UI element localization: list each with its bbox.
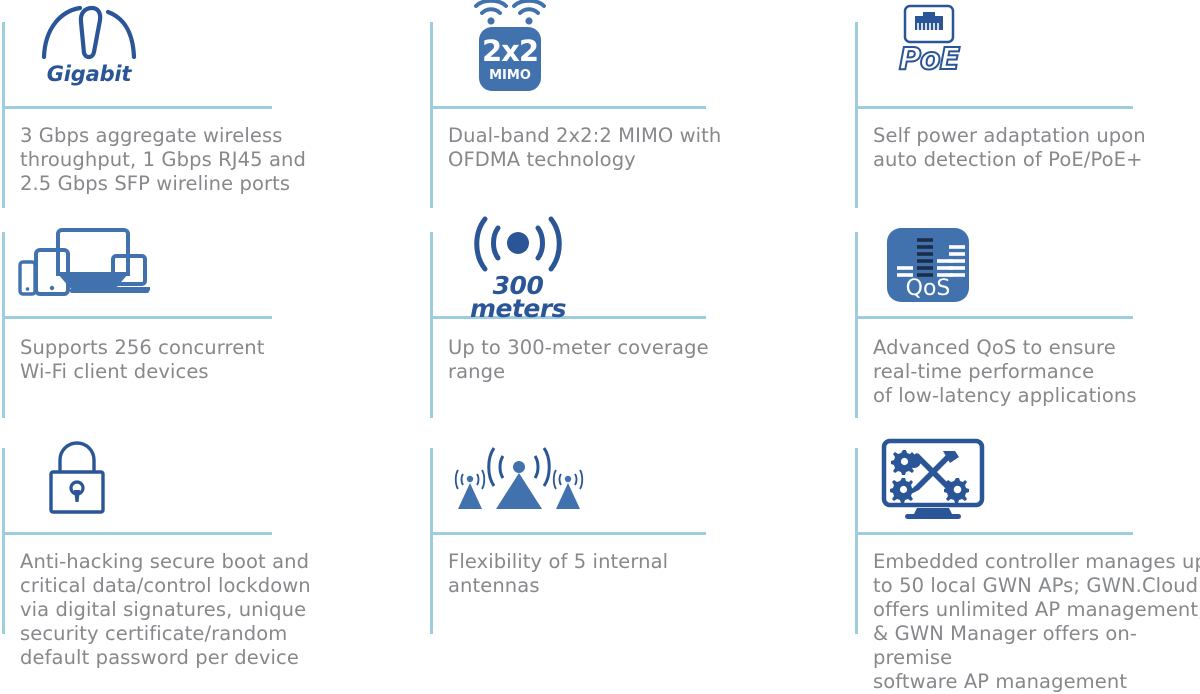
feature-description: Dual-band 2x2:2 MIMO with OFDMA technolo… (448, 124, 788, 172)
feature-description: Embedded controller manages up to 50 loc… (873, 550, 1200, 694)
coverage-secondary-label: meters (470, 297, 566, 320)
multi-device-icon (18, 228, 150, 300)
feature-description: Up to 300-meter coverage range (448, 336, 788, 384)
gigabit-logo-icon (36, 2, 142, 64)
vertical-accent-rule (430, 22, 433, 208)
horizontal-accent-rule (2, 532, 272, 535)
vertical-accent-rule (855, 22, 858, 208)
monitor-tools-icon (881, 438, 985, 520)
horizontal-accent-rule (430, 106, 706, 109)
feature-card-security: Anti-hacking secure boot and critical da… (0, 424, 430, 660)
two-by-two-mimo-icon: 2x2 MIMO (479, 27, 541, 91)
feature-card-clients: Supports 256 concurrent Wi-Fi client dev… (0, 210, 430, 424)
feature-card-gigabit: Gigabit 3 Gbps aggregate wireless throug… (0, 0, 430, 210)
horizontal-accent-rule (855, 532, 1133, 535)
feature-description: 3 Gbps aggregate wireless throughput, 1 … (20, 124, 350, 196)
feature-card-qos: QoS Advanced QoS to ensure real-time per… (855, 210, 1200, 424)
coverage-icon-label: 300 meters (470, 274, 566, 320)
padlock-icon (46, 436, 108, 516)
feature-description: Anti-hacking secure boot and critical da… (20, 550, 360, 670)
poe-icon-label: PoE (899, 42, 959, 77)
vertical-accent-rule (2, 22, 5, 208)
vertical-accent-rule (2, 232, 5, 418)
vertical-accent-rule (855, 448, 858, 634)
qos-equalizer-icon: QoS (887, 228, 969, 302)
coverage-range-icon (464, 212, 572, 280)
vertical-accent-rule (430, 448, 433, 634)
rj45-connector-icon (903, 4, 955, 44)
feature-description: Flexibility of 5 internal antennas (448, 550, 788, 598)
feature-card-coverage: 300 meters Up to 300-meter coverage rang… (430, 210, 855, 424)
horizontal-accent-rule (2, 316, 272, 319)
feature-card-mimo: 2x2 MIMO Dual-band 2x2:2 MIMO with OFDMA… (430, 0, 855, 210)
horizontal-accent-rule (2, 106, 272, 109)
feature-description: Supports 256 concurrent Wi-Fi client dev… (20, 336, 350, 384)
wifi-signals-icon (472, 0, 548, 26)
feature-grid: Gigabit 3 Gbps aggregate wireless throug… (0, 0, 1200, 660)
feature-card-antennas: Flexibility of 5 internal antennas (430, 424, 855, 660)
horizontal-accent-rule (855, 316, 1133, 319)
feature-card-poe: PoE Self power adaptation upon auto dete… (855, 0, 1200, 210)
horizontal-accent-rule (855, 106, 1133, 109)
horizontal-accent-rule (430, 532, 706, 535)
gigabit-icon-label: Gigabit (47, 62, 132, 86)
feature-card-management: Embedded controller manages up to 50 loc… (855, 424, 1200, 660)
feature-description: Advanced QoS to ensure real-time perform… (873, 336, 1173, 408)
vertical-accent-rule (430, 232, 433, 418)
feature-description: Self power adaptation upon auto detectio… (873, 124, 1173, 172)
mimo-primary-label: 2x2 (482, 37, 538, 66)
vertical-accent-rule (2, 448, 5, 634)
qos-icon-label: QoS (887, 278, 969, 300)
mimo-secondary-label: MIMO (489, 69, 531, 82)
vertical-accent-rule (855, 232, 858, 418)
antenna-towers-icon (446, 434, 592, 514)
